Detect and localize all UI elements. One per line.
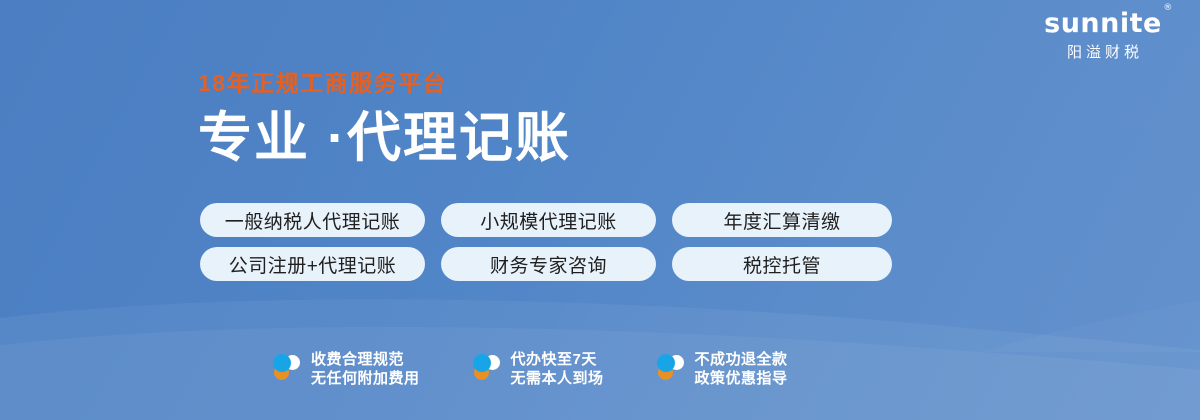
- feature-line-2: 无任何附加费用: [311, 370, 420, 387]
- service-pill-annual-settlement[interactable]: 年度汇算清缴: [672, 203, 892, 237]
- three-dots-icon: [472, 353, 502, 385]
- feature-item-speed: 代办快至7天 无需本人到场: [472, 350, 604, 388]
- service-pill-expert-consulting[interactable]: 财务专家咨询: [441, 247, 656, 281]
- feature-text-speed: 代办快至7天 无需本人到场: [511, 350, 604, 388]
- brand-wordmark-text: sunnite: [1044, 8, 1162, 39]
- service-pill-row-1: 一般纳税人代理记账 小规模代理记账 年度汇算清缴: [200, 203, 892, 237]
- feature-line-2: 无需本人到场: [511, 370, 604, 387]
- brand-chinese-name: 阳溢财税: [1028, 43, 1178, 63]
- feature-line-1: 代办快至7天: [511, 351, 597, 368]
- service-pill-grid: 一般纳税人代理记账 小规模代理记账 年度汇算清缴 公司注册+代理记账 财务专家咨…: [200, 203, 892, 281]
- hero-eyebrow: 18年正规工商服务平台: [198, 68, 571, 98]
- feature-item-pricing: 收费合理规范 无任何附加费用: [272, 350, 420, 388]
- promo-banner: sunnite ® 阳溢财税 18年正规工商服务平台 专业 ·代理记账 一般纳税…: [0, 0, 1200, 420]
- service-pill-general-taxpayer[interactable]: 一般纳税人代理记账: [200, 203, 425, 237]
- registered-trademark-icon: ®: [1163, 4, 1173, 13]
- feature-line-1: 不成功退全款: [695, 351, 788, 368]
- dot-blue-icon: [657, 354, 675, 372]
- hero-text-block: 18年正规工商服务平台 专业 ·代理记账: [198, 68, 571, 170]
- brand-logo[interactable]: sunnite ® 阳溢财税: [1028, 8, 1178, 63]
- dot-blue-icon: [273, 354, 291, 372]
- feature-item-guarantee: 不成功退全款 政策优惠指导: [656, 350, 788, 388]
- service-pill-tax-control-hosting[interactable]: 税控托管: [672, 247, 892, 281]
- feature-line-2: 政策优惠指导: [695, 370, 788, 387]
- feature-text-guarantee: 不成功退全款 政策优惠指导: [695, 350, 788, 388]
- hero-headline: 专业 ·代理记账: [198, 106, 571, 170]
- three-dots-icon: [272, 353, 302, 385]
- feature-strip: 收费合理规范 无任何附加费用 代办快至7天 无需本人到场 不成功退全款: [272, 350, 788, 388]
- feature-text-pricing: 收费合理规范 无任何附加费用: [311, 350, 420, 388]
- three-dots-icon: [656, 353, 686, 385]
- brand-wordmark: sunnite ®: [1044, 8, 1162, 40]
- dot-blue-icon: [473, 354, 491, 372]
- service-pill-row-2: 公司注册+代理记账 财务专家咨询 税控托管: [200, 247, 892, 281]
- feature-line-1: 收费合理规范: [311, 351, 404, 368]
- service-pill-small-scale[interactable]: 小规模代理记账: [441, 203, 656, 237]
- service-pill-company-registration[interactable]: 公司注册+代理记账: [200, 247, 425, 281]
